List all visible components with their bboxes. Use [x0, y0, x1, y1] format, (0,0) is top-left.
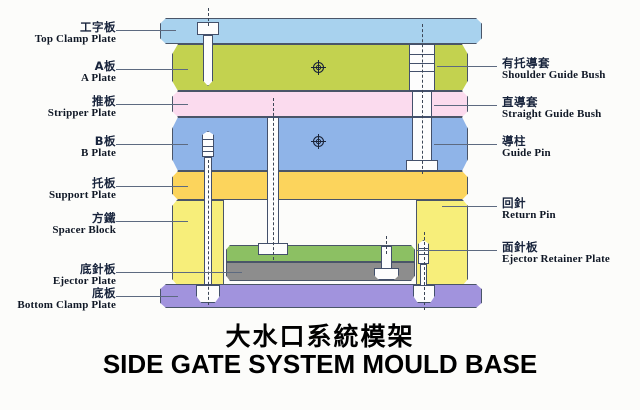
ejector-pin-head — [202, 139, 214, 157]
return-pin-right-collar — [374, 268, 399, 280]
label-guide-pin-en: Guide Pin — [502, 148, 551, 160]
leader-support-plate — [116, 186, 188, 187]
leader-straight-guide-bush — [434, 105, 497, 106]
leader-top-clamp-plate — [116, 30, 176, 31]
label-ejector-retainer-plate-cn: 面針板 — [502, 241, 610, 253]
leader-return-pin — [442, 206, 497, 207]
label-straight-guide-bush-en: Straight Guide Bush — [502, 109, 601, 121]
label-spacer-block-en: Spacer Block — [52, 225, 116, 237]
return-pin-centerline — [273, 98, 274, 260]
label-support-plate: 托板 Support Plate — [49, 177, 116, 202]
label-top-clamp-plate: 工字板 Top Clamp Plate — [35, 21, 116, 46]
ejector-pin-centerline — [208, 160, 209, 305]
label-ejector-retainer-plate-en: Ejector Retainer Plate — [502, 254, 610, 266]
leader-b-plate — [116, 144, 188, 145]
leader-ejector-retainer-plate — [417, 250, 497, 251]
label-bottom-clamp-plate-en: Bottom Clamp Plate — [17, 300, 116, 312]
title-english: SIDE GATE SYSTEM MOULD BASE — [0, 349, 640, 380]
ejector-pin-head-line-2 — [202, 151, 214, 152]
label-support-plate-en: Support Plate — [49, 190, 116, 202]
label-stripper-plate: 推板 Stripper Plate — [48, 95, 116, 120]
label-support-plate-cn: 托板 — [49, 177, 116, 189]
label-stripper-plate-cn: 推板 — [48, 95, 116, 107]
datum-target-a-plate — [311, 60, 326, 75]
label-ejector-plate: 底針板 Ejector Plate — [53, 263, 116, 288]
guide-pin-centerline — [422, 24, 423, 174]
leader-spacer-block — [116, 221, 188, 222]
label-shoulder-guide-bush-en: Shoulder Guide Bush — [502, 70, 606, 82]
plate-support — [172, 171, 468, 200]
bottom-screw-centerline — [424, 232, 425, 310]
leader-a-plate — [116, 69, 188, 70]
leader-guide-pin — [434, 144, 497, 145]
label-return-pin-cn: 回針 — [502, 197, 556, 209]
cap-screw-centerline — [208, 8, 209, 26]
label-shoulder-guide-bush-cn: 有托導套 — [502, 57, 606, 69]
label-shoulder-guide-bush: 有托導套 Shoulder Guide Bush — [502, 57, 606, 82]
leader-stripper-plate — [116, 104, 188, 105]
label-b-plate-en: B Plate — [81, 148, 116, 160]
label-ejector-retainer-plate: 面針板 Ejector Retainer Plate — [502, 241, 610, 266]
label-bottom-clamp-plate-cn: 底板 — [17, 287, 116, 299]
title-chinese: 大水口系統模架 — [0, 317, 640, 353]
label-ejector-plate-cn: 底針板 — [53, 263, 116, 275]
mould-base-diagram: 工字板 Top Clamp Plate A板 A Plate 推板 Stripp… — [0, 0, 640, 410]
label-b-plate: B板 B Plate — [81, 135, 116, 160]
label-straight-guide-bush-cn: 直導套 — [502, 96, 601, 108]
label-a-plate-cn: A板 — [81, 60, 116, 72]
return-pin-right-centerline — [386, 236, 387, 254]
datum-target-b-plate — [311, 134, 326, 149]
leader-bottom-clamp-plate — [116, 296, 178, 297]
label-a-plate: A板 A Plate — [81, 60, 116, 85]
label-b-plate-cn: B板 — [81, 135, 116, 147]
label-return-pin: 回針 Return Pin — [502, 197, 556, 222]
leader-shoulder-guide-bush — [437, 66, 497, 67]
label-top-clamp-plate-en: Top Clamp Plate — [35, 34, 116, 46]
label-spacer-block-cn: 方鐵 — [52, 212, 116, 224]
label-spacer-block: 方鐵 Spacer Block — [52, 212, 116, 237]
label-guide-pin-cn: 導柱 — [502, 135, 551, 147]
label-guide-pin: 導柱 Guide Pin — [502, 135, 551, 160]
label-a-plate-en: A Plate — [81, 73, 116, 85]
ejector-pin-head-line-1 — [202, 146, 214, 147]
label-bottom-clamp-plate: 底板 Bottom Clamp Plate — [17, 287, 116, 312]
leader-ejector-plate — [116, 272, 242, 273]
label-straight-guide-bush: 直導套 Straight Guide Bush — [502, 96, 601, 121]
label-stripper-plate-en: Stripper Plate — [48, 108, 116, 120]
cap-screw-shank — [203, 35, 213, 75]
label-top-clamp-plate-cn: 工字板 — [35, 21, 116, 33]
label-return-pin-en: Return Pin — [502, 210, 556, 222]
